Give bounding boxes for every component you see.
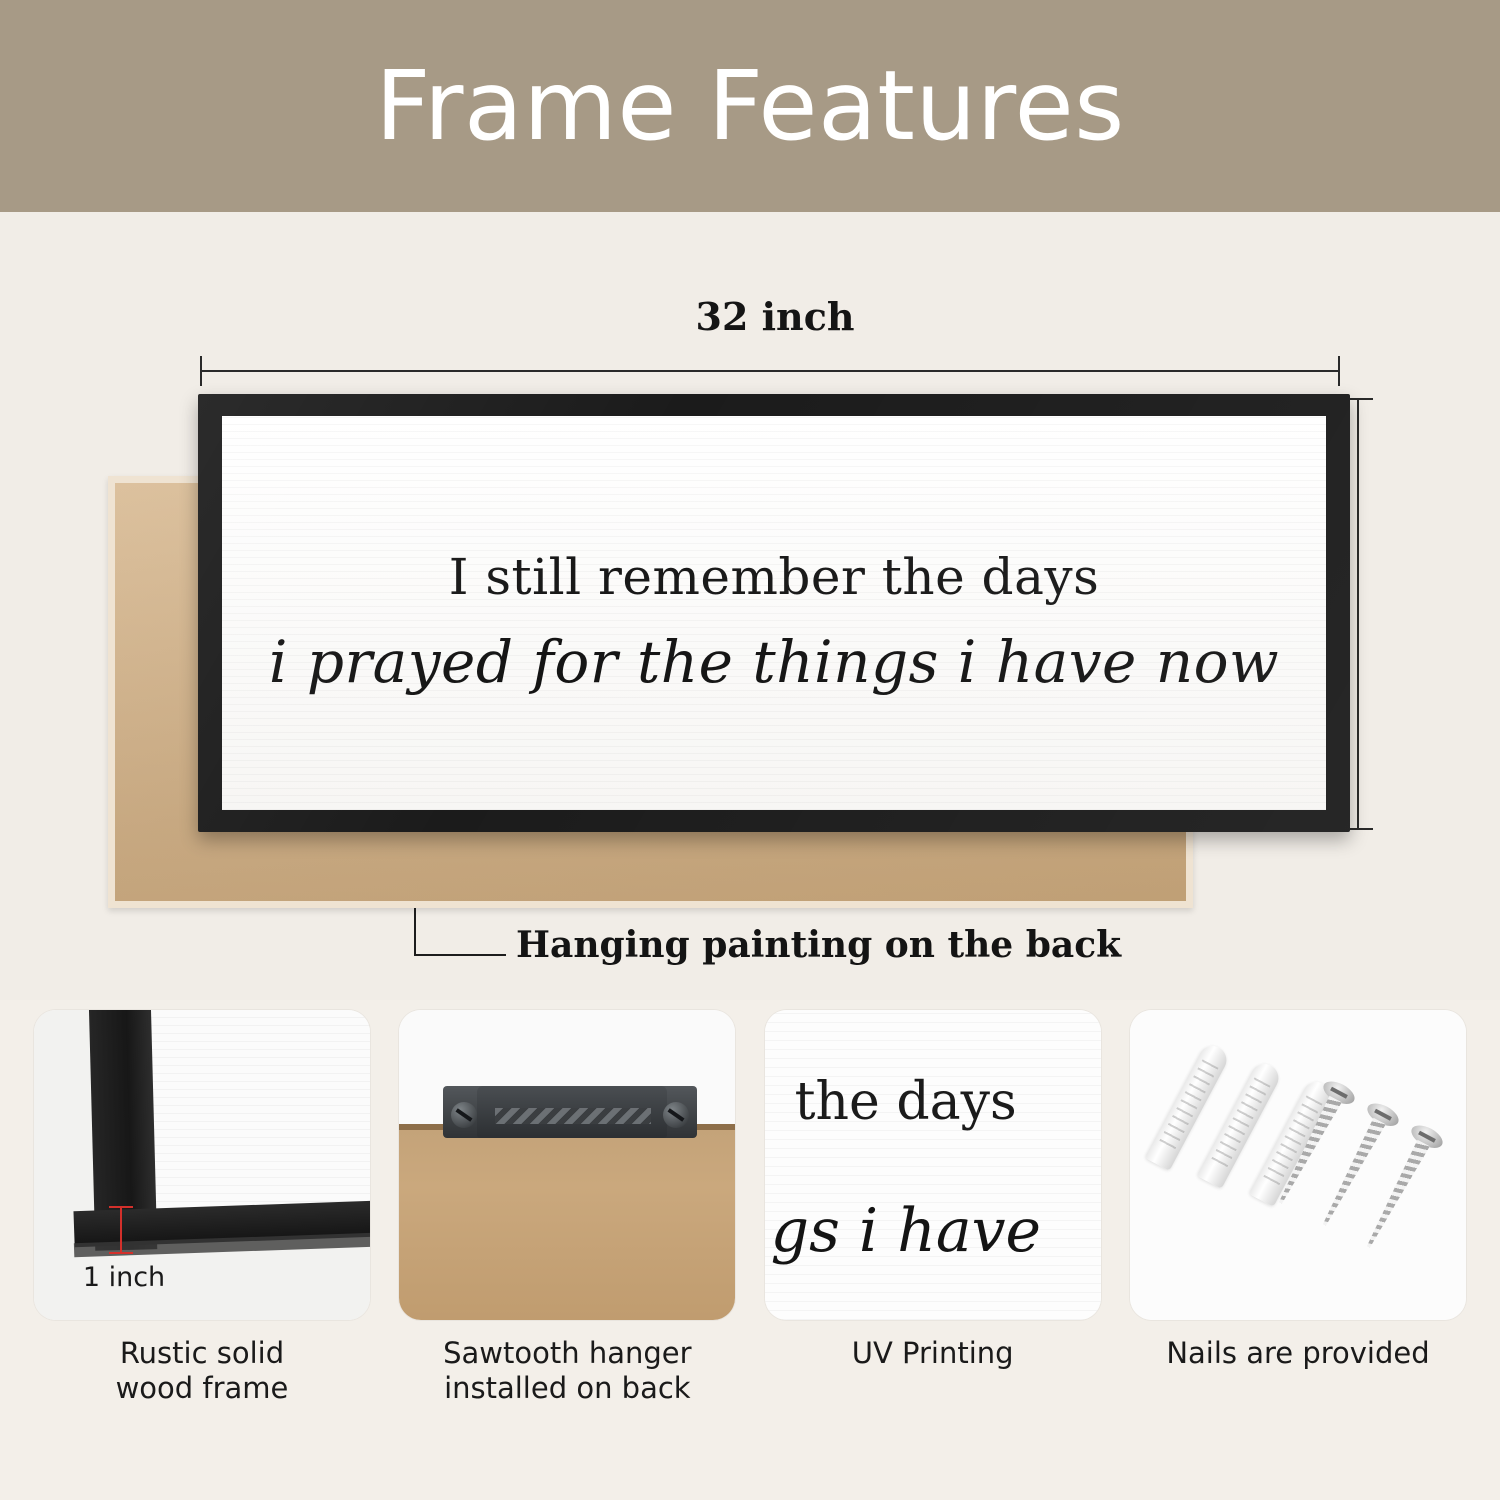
header-banner: Frame Features: [0, 0, 1500, 212]
frame-photo-white-panel: [130, 1010, 370, 1234]
thickness-measure-line: [120, 1206, 122, 1254]
thickness-measure-tick-top: [109, 1206, 133, 1208]
width-dimension-cap-right: [1338, 356, 1340, 386]
feature-caption-uv-printing: UV Printing: [852, 1336, 1014, 1371]
feature-caption-sawtooth-hanger: Sawtooth hanger installed on back: [443, 1336, 691, 1407]
width-dimension-cap-left: [200, 356, 202, 386]
feature-card-sawtooth-hanger: Sawtooth hanger installed on back: [397, 1010, 737, 1500]
frame-corner-photo: 1 inch: [34, 1010, 370, 1320]
callout-leader-horizontal: [414, 954, 506, 956]
uv-printing-closeup-line-1: the days: [795, 1072, 1017, 1132]
hanger-photo-board: [399, 1130, 735, 1320]
uv-printing-surface: [765, 1010, 1101, 1320]
uv-printing-photo: the days gs i have: [765, 1010, 1101, 1320]
width-dimension-label: 32 inch: [600, 294, 950, 339]
nails-photo: [1130, 1010, 1466, 1320]
page-title: Frame Features: [375, 58, 1124, 154]
width-dimension-line: [200, 370, 1340, 372]
feature-card-nails: Nails are provided: [1128, 1010, 1468, 1500]
hanging-painting-callout-label: Hanging painting on the back: [516, 924, 1121, 966]
sign-face: I still remember the days i prayed for t…: [222, 416, 1326, 810]
feature-caption-nails: Nails are provided: [1166, 1336, 1429, 1371]
product-diagram: 32 inch 12 inch I still remember the day…: [0, 212, 1500, 1000]
sawtooth-teeth: [495, 1108, 651, 1124]
thickness-measure-label: 1 inch: [74, 1262, 174, 1293]
feature-caption-rustic-frame: Rustic solid wood frame: [116, 1336, 289, 1407]
sawtooth-hanger-photo: [399, 1010, 735, 1320]
thickness-measure-tick-bottom: [109, 1252, 133, 1254]
feature-cards-row: 1 inch Rustic solid wood frame Sawtooth …: [0, 1010, 1500, 1500]
feature-card-rustic-frame: 1 inch Rustic solid wood frame: [32, 1010, 372, 1500]
feature-card-uv-printing: the days gs i have UV Printing: [763, 1010, 1103, 1500]
uv-printing-closeup-line-2: gs i have: [771, 1196, 1041, 1266]
framed-sign: I still remember the days i prayed for t…: [198, 394, 1350, 832]
sign-text-line-1: I still remember the days: [449, 548, 1100, 606]
callout-leader-vertical: [414, 908, 416, 956]
height-dimension-line: [1357, 398, 1359, 830]
sign-text-line-2: i prayed for the things i have now: [269, 628, 1279, 696]
